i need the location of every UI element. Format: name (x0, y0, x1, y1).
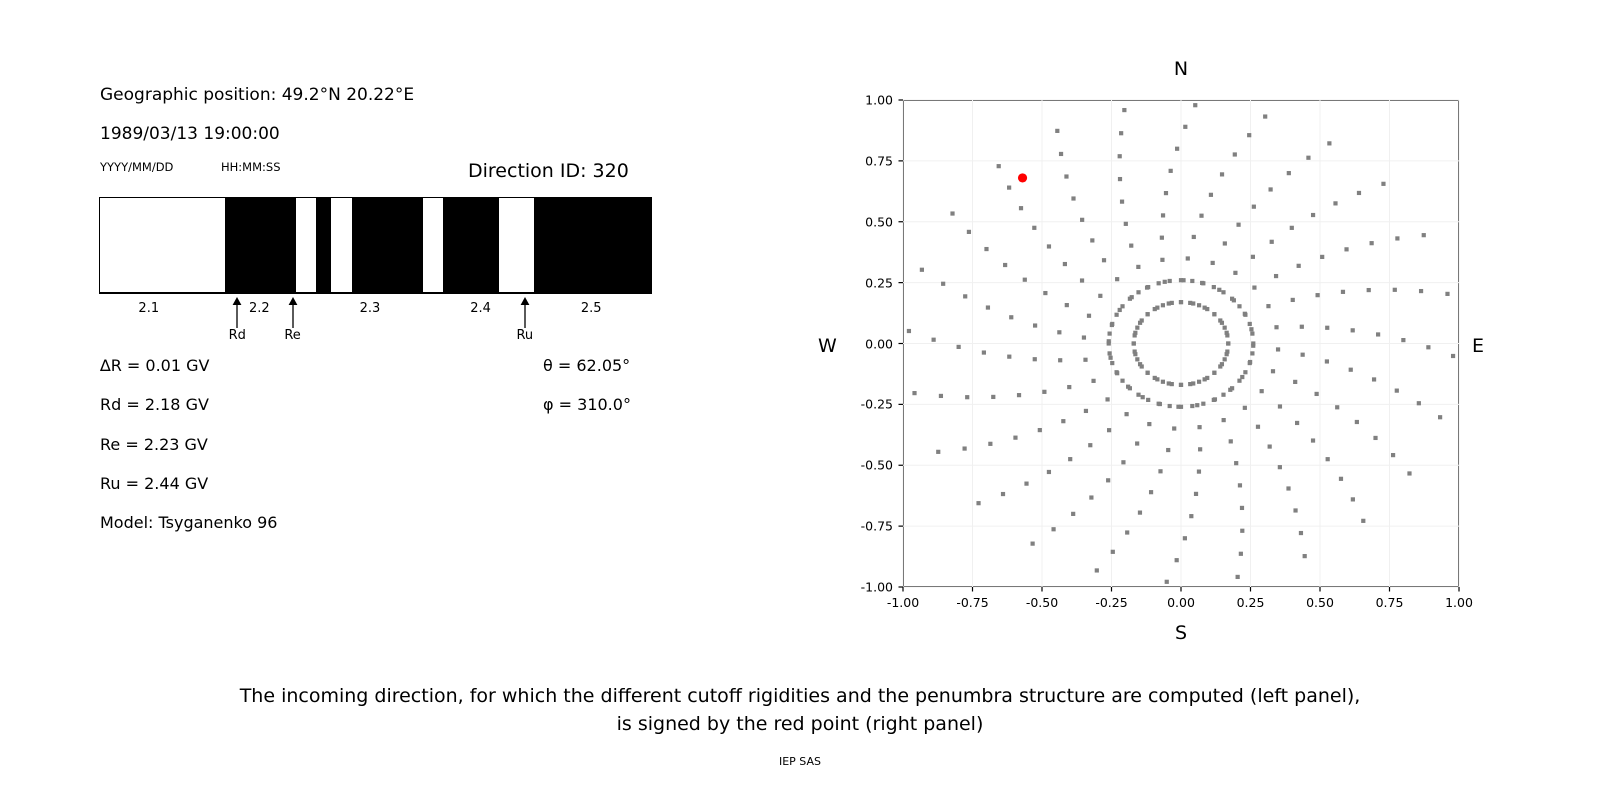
scatter-point (1165, 580, 1169, 584)
scatter-point (1240, 506, 1244, 510)
scatter-point (1438, 415, 1442, 419)
compass-label-north: N (903, 58, 1459, 80)
scatter-point (1243, 370, 1247, 374)
compass-label-south: S (903, 622, 1459, 644)
direction-id-label: Direction ID: 320 (468, 160, 629, 182)
scatter-point (1239, 552, 1243, 556)
penumbra-axis-line (99, 293, 652, 294)
scatter-point (1082, 335, 1086, 339)
scatter-point (932, 338, 936, 342)
scatter-point (1115, 277, 1119, 281)
rd-value: Rd = 2.18 GV (100, 395, 209, 414)
scatter-point (1243, 313, 1247, 317)
scatter-point (1237, 304, 1241, 308)
scatter-point (1007, 186, 1011, 190)
scatter-point (1263, 114, 1267, 118)
penumbra-tick-label: 2.1 (119, 301, 179, 316)
scatter-point (1038, 428, 1042, 432)
caption-line-2: is signed by the red point (right panel) (0, 711, 1600, 739)
scatter-point (1017, 393, 1021, 397)
scatter-point (1243, 406, 1247, 410)
scatter-point (1083, 358, 1087, 362)
scatter-point (1320, 255, 1324, 259)
sky-map-chart (903, 100, 1459, 587)
scatter-point (1190, 404, 1194, 408)
scatter-point (991, 395, 995, 399)
scatter-point (1211, 261, 1215, 265)
scatter-point (1229, 439, 1233, 443)
scatter-point (1047, 470, 1051, 474)
scatter-point (1299, 531, 1303, 535)
scatter-point (1095, 568, 1099, 572)
scatter-point (1222, 418, 1226, 422)
penumbra-forbidden-band (534, 198, 652, 292)
scatter-point (1080, 278, 1084, 282)
scatter-point (941, 282, 945, 286)
scatter-point (1370, 241, 1374, 245)
scatter-point (1195, 403, 1199, 407)
scatter-point (1120, 200, 1124, 204)
scatter-point (1067, 385, 1071, 389)
scatter-point (1376, 332, 1380, 336)
scatter-point (1007, 355, 1011, 359)
scatter-point (1236, 223, 1240, 227)
marker-arrow-ru-icon (519, 296, 531, 328)
scatter-point (1355, 420, 1359, 424)
datetime-label: 1989/03/13 19:00:00 (100, 124, 280, 144)
scatter-point (1107, 341, 1111, 345)
scatter-point (1240, 529, 1244, 533)
scatter-point (1326, 457, 1330, 461)
scatter-point (1119, 131, 1123, 135)
scatter-point (1140, 364, 1144, 368)
scatter-point (1135, 441, 1139, 445)
footer-label: IEP SAS (0, 755, 1600, 768)
scatter-point (984, 247, 988, 251)
scatter-point (907, 329, 911, 333)
ru-value: Ru = 2.44 GV (100, 474, 208, 493)
scatter-point (1249, 327, 1253, 331)
scatter-point (1266, 304, 1270, 308)
scatter-point (1250, 351, 1254, 355)
x-axis-tick-label: -0.25 (1082, 595, 1142, 610)
scatter-point (1238, 483, 1242, 487)
scatter-point (1013, 436, 1017, 440)
scatter-point (1024, 482, 1028, 486)
scatter-point (1252, 205, 1256, 209)
scatter-point (1157, 402, 1161, 406)
x-axis-tick-label: 0.00 (1151, 595, 1211, 610)
scatter-point (1065, 303, 1069, 307)
scatter-point (1274, 325, 1278, 329)
scatter-point (1146, 398, 1150, 402)
scatter-point (1367, 288, 1371, 292)
date-format-hint: YYYY/MM/DD (100, 160, 173, 174)
scatter-point (1071, 512, 1075, 516)
marker-label-rd: Rd (217, 328, 257, 343)
scatter-point (1223, 241, 1227, 245)
scatter-point (1372, 377, 1376, 381)
scatter-point (1175, 147, 1179, 151)
geographic-position-label: Geographic position: 49.2°N 20.22°E (100, 85, 414, 105)
penumbra-tick-label: 2.3 (340, 301, 400, 316)
scatter-point (1166, 448, 1170, 452)
phi-value: φ = 310.0° (543, 395, 631, 414)
scatter-point (1192, 235, 1196, 239)
scatter-point (1300, 325, 1304, 329)
scatter-point (963, 294, 967, 298)
scatter-point (957, 345, 961, 349)
scatter-point (1197, 380, 1201, 384)
scatter-point (1160, 258, 1164, 262)
scatter-point (1278, 465, 1282, 469)
scatter-point (1327, 141, 1331, 145)
scatter-point (1114, 370, 1118, 374)
marker-arrow-re-icon (287, 296, 299, 328)
scatter-point (1055, 129, 1059, 133)
scatter-point (1084, 409, 1088, 413)
scatter-point (939, 394, 943, 398)
scatter-point (1301, 353, 1305, 357)
scatter-point (1169, 169, 1173, 173)
scatter-point (1110, 361, 1114, 365)
scatter-point (1161, 303, 1165, 307)
scatter-point (1153, 376, 1157, 380)
scatter-point (1407, 471, 1411, 475)
scatter-point (1325, 359, 1329, 363)
x-axis-tick-label: -0.75 (943, 595, 1003, 610)
scatter-point (1043, 291, 1047, 295)
scatter-point (1271, 369, 1275, 373)
scatter-point (1120, 304, 1124, 308)
scatter-point (1042, 390, 1046, 394)
scatter-point (1160, 236, 1164, 240)
scatter-point (1161, 380, 1165, 384)
scatter-point (1106, 478, 1110, 482)
scatter-point (1293, 380, 1297, 384)
scatter-point (1133, 349, 1137, 353)
scatter-point (982, 350, 986, 354)
scatter-point (1189, 514, 1193, 518)
scatter-point (1128, 386, 1132, 390)
scatter-point (1341, 290, 1345, 294)
scatter-point (1149, 490, 1153, 494)
penumbra-tick-label: 2.5 (561, 301, 621, 316)
scatter-point (1179, 278, 1183, 282)
scatter-point (1250, 331, 1254, 335)
model-value: Model: Tsyganenko 96 (100, 513, 277, 532)
scatter-point (1051, 527, 1055, 531)
scatter-point (1256, 425, 1260, 429)
scatter-point (1344, 247, 1348, 251)
scatter-point (1199, 214, 1203, 218)
scatter-point (986, 305, 990, 309)
scatter-point (1236, 575, 1240, 579)
scatter-point (1221, 290, 1225, 294)
scatter-point (1183, 536, 1187, 540)
scatter-point (1218, 364, 1222, 368)
scatter-point (1349, 368, 1353, 372)
scatter-point (1091, 379, 1095, 383)
scatter-point (988, 442, 992, 446)
scatter-point (950, 211, 954, 215)
scatter-point (1316, 293, 1320, 297)
penumbra-forbidden-band (316, 198, 331, 292)
x-axis-tick-label: 1.00 (1429, 595, 1489, 610)
scatter-point (1087, 314, 1091, 318)
scatter-point (1193, 103, 1197, 107)
scatter-point (1068, 457, 1072, 461)
scatter-point (1230, 297, 1234, 301)
re-value: Re = 2.23 GV (100, 435, 208, 454)
marker-arrow-rd-icon (231, 296, 243, 328)
scatter-point (1047, 244, 1051, 248)
scatter-point (1247, 133, 1251, 137)
time-format-hint: HH:MM:SS (221, 160, 281, 174)
scatter-point (1197, 469, 1201, 473)
scatter-point (1217, 288, 1221, 292)
scatter-point (1419, 289, 1423, 293)
scatter-point (1393, 288, 1397, 292)
scatter-point (1240, 375, 1244, 379)
scatter-point (1031, 542, 1035, 546)
scatter-point (1306, 156, 1310, 160)
scatter-point (1175, 558, 1179, 562)
scatter-point (1118, 154, 1122, 158)
scatter-point (1188, 301, 1192, 305)
scatter-point (1226, 341, 1230, 345)
scatter-point (1108, 331, 1112, 335)
x-axis-tick-label: 0.25 (1221, 595, 1281, 610)
scatter-point (1297, 264, 1301, 268)
penumbra-band-bar (99, 197, 652, 293)
scatter-point (1111, 550, 1115, 554)
scatter-point (1218, 318, 1222, 322)
scatter-point (1102, 258, 1106, 262)
scatter-point (1124, 222, 1128, 226)
x-axis-tick-label: 0.75 (1360, 595, 1420, 610)
scatter-point (1287, 171, 1291, 175)
x-axis-tick-label: -1.00 (873, 595, 933, 610)
scatter-point (1088, 443, 1092, 447)
scatter-point (912, 391, 916, 395)
scatter-point (1063, 262, 1067, 266)
scatter-point (1145, 371, 1149, 375)
scatter-point (1105, 397, 1109, 401)
scatter-point (1183, 125, 1187, 129)
scatter-point (1201, 402, 1205, 406)
scatter-point (1220, 172, 1224, 176)
scatter-point (1168, 404, 1172, 408)
y-axis-tick-label: -0.50 (833, 458, 893, 473)
scatter-point (1251, 341, 1255, 345)
scatter-point (1190, 279, 1194, 283)
scatter-points-layer (903, 100, 1459, 587)
marker-label-ru: Ru (505, 328, 545, 343)
scatter-point (1333, 201, 1337, 205)
theta-value: θ = 62.05° (543, 356, 630, 375)
scatter-point (1198, 447, 1202, 451)
scatter-point (1135, 357, 1139, 361)
scatter-point (1401, 338, 1405, 342)
y-axis-tick-label: -1.00 (833, 580, 893, 595)
scatter-point (1059, 152, 1063, 156)
scatter-point (1108, 351, 1112, 355)
scatter-point (1179, 300, 1183, 304)
compass-label-east: E (1472, 335, 1484, 357)
scatter-point (1135, 326, 1139, 330)
scatter-point (1223, 357, 1227, 361)
scatter-point (1121, 460, 1125, 464)
penumbra-chart (99, 197, 652, 293)
scatter-point (1019, 206, 1023, 210)
scatter-point (1315, 392, 1319, 396)
scatter-point (1114, 313, 1118, 317)
scatter-point (1395, 236, 1399, 240)
scatter-point (1270, 240, 1274, 244)
scatter-point (1064, 174, 1068, 178)
scatter-point (1108, 356, 1112, 360)
caption-line-1: The incoming direction, for which the di… (0, 683, 1600, 711)
scatter-point (1422, 233, 1426, 237)
scatter-point (1293, 508, 1297, 512)
scatter-point (1325, 326, 1329, 330)
scatter-point (1172, 426, 1176, 430)
scatter-point (1286, 486, 1290, 490)
scatter-point (1090, 238, 1094, 242)
scatter-point (1071, 196, 1075, 200)
scatter-point (1295, 421, 1299, 425)
scatter-point (1252, 285, 1256, 289)
scatter-point (976, 501, 980, 505)
scatter-point (1197, 425, 1201, 429)
y-axis-tick-label: -0.75 (833, 519, 893, 534)
scatter-point (997, 164, 1001, 168)
scatter-point (1153, 307, 1157, 311)
scatter-point (1351, 497, 1355, 501)
scatter-point (1009, 315, 1013, 319)
scatter-point (1351, 328, 1355, 332)
scatter-point (1212, 371, 1216, 375)
scatter-point (1129, 244, 1133, 248)
scatter-point (1118, 308, 1122, 312)
scatter-point (1179, 405, 1183, 409)
scatter-point (1290, 226, 1294, 230)
scatter-point (1269, 187, 1273, 191)
scatter-point (1233, 152, 1237, 156)
scatter-point (936, 450, 940, 454)
scatter-point (1147, 422, 1151, 426)
scatter-point (1395, 389, 1399, 393)
y-axis-tick-label: 0.75 (833, 153, 893, 168)
scatter-point (1136, 265, 1140, 269)
scatter-point (1125, 530, 1129, 534)
scatter-point (1146, 285, 1150, 289)
scatter-point (1268, 444, 1272, 448)
scatter-point (1451, 354, 1455, 358)
scatter-point (1225, 333, 1229, 337)
scatter-point (1118, 177, 1122, 181)
scatter-point (965, 395, 969, 399)
scatter-point (967, 230, 971, 234)
delta-r-value: ∆R = 0.01 GV (100, 356, 209, 375)
scatter-point (1230, 386, 1234, 390)
scatter-point (1003, 263, 1007, 267)
scatter-point (1212, 285, 1216, 289)
scatter-point (1107, 428, 1111, 432)
scatter-point (1445, 292, 1449, 296)
scatter-point (1361, 519, 1365, 523)
y-axis-tick-label: -0.25 (833, 397, 893, 412)
scatter-point (1186, 256, 1190, 260)
y-axis-tick-label: 0.50 (833, 214, 893, 229)
scatter-point (1311, 438, 1315, 442)
scatter-point (1124, 412, 1128, 416)
highlighted-direction-point[interactable] (1018, 173, 1027, 182)
scatter-point (1001, 492, 1005, 496)
scatter-point (1303, 554, 1307, 558)
scatter-point (1234, 461, 1238, 465)
scatter-point (1120, 379, 1124, 383)
scatter-point (1278, 404, 1282, 408)
marker-label-re: Re (273, 328, 313, 343)
scatter-point (1194, 492, 1198, 496)
penumbra-forbidden-band (443, 198, 499, 292)
scatter-point (1291, 298, 1295, 302)
scatter-point (1033, 357, 1037, 361)
scatter-point (1237, 379, 1241, 383)
scatter-point (1122, 108, 1126, 112)
scatter-point (1080, 218, 1084, 222)
y-axis-tick-label: 0.25 (833, 275, 893, 290)
scatter-point (1136, 290, 1140, 294)
scatter-point (1373, 436, 1377, 440)
scatter-point (1138, 511, 1142, 515)
scatter-point (1136, 393, 1140, 397)
scatter-point (1357, 191, 1361, 195)
scatter-point (1164, 191, 1168, 195)
scatter-point (1311, 213, 1315, 217)
scatter-point (1179, 383, 1183, 387)
scatter-point (1168, 279, 1172, 283)
scatter-point (920, 268, 924, 272)
scatter-point (1417, 401, 1421, 405)
scatter-point (1032, 226, 1036, 230)
scatter-point (1170, 382, 1174, 386)
scatter-point (1248, 361, 1252, 365)
scatter-point (1110, 322, 1114, 326)
scatter-point (1233, 271, 1237, 275)
scatter-point (1188, 382, 1192, 386)
scatter-point (1133, 333, 1137, 337)
figure-caption: The incoming direction, for which the di… (0, 683, 1600, 738)
scatter-point (1128, 297, 1132, 301)
x-axis-tick-label: -0.50 (1012, 595, 1072, 610)
scatter-point (1426, 345, 1430, 349)
scatter-point (963, 446, 967, 450)
scatter-point (1058, 358, 1062, 362)
scatter-point (1201, 281, 1205, 285)
scatter-point (1161, 213, 1165, 217)
y-axis-tick-label: 0.00 (833, 336, 893, 351)
y-axis-tick-label: 1.00 (833, 93, 893, 108)
scatter-point (1205, 307, 1209, 311)
scatter-point (1391, 453, 1395, 457)
scatter-point (1212, 312, 1216, 316)
scatter-point (1141, 395, 1145, 399)
scatter-point (1212, 398, 1216, 402)
scatter-point (1158, 469, 1162, 473)
